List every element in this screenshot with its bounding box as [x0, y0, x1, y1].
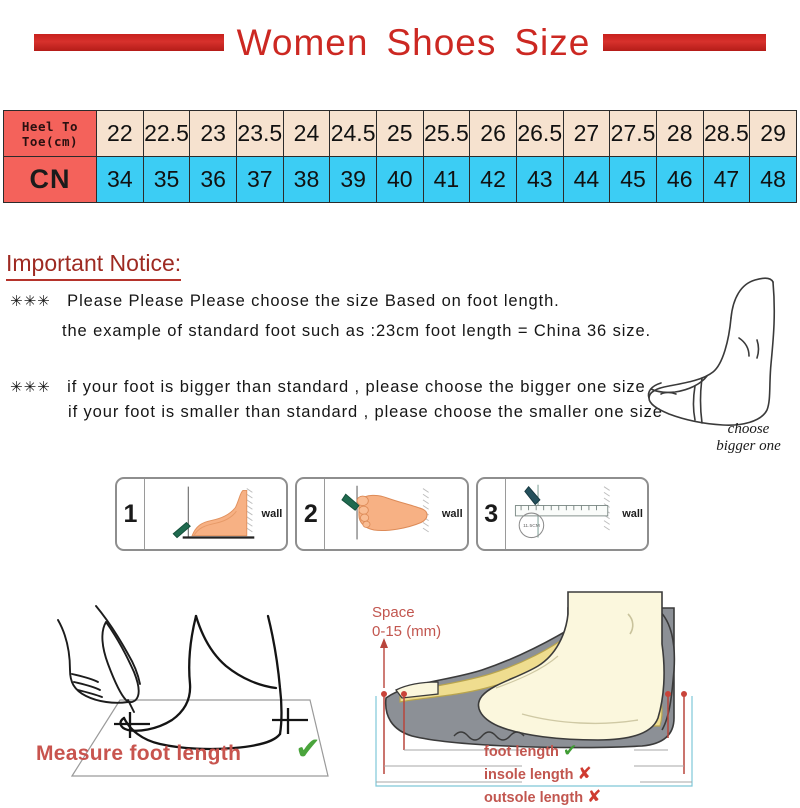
step-3-ruler-badge: 11.5CM: [523, 523, 540, 529]
notice-line-1: ✳✳✳ Please Please Please choose the size…: [10, 292, 560, 311]
cell-cm: 26.5: [516, 111, 563, 157]
row-header-heel-to-toe: Heel To Toe(cm): [4, 111, 97, 157]
step-2-body: wall: [325, 479, 466, 549]
important-notice-heading: Important Notice:: [6, 250, 181, 281]
page-title-word-3: Size: [514, 22, 590, 63]
insole-length-row: insole length ✘: [484, 763, 601, 786]
cell-cn: 45: [610, 157, 657, 203]
cell-cm: 28: [656, 111, 703, 157]
table-row-cn: CN 34 35 36 37 38 39 40 41 42 43 44 45 4…: [4, 157, 797, 203]
step-1-body: wall: [145, 479, 286, 549]
cell-cn: 40: [376, 157, 423, 203]
cell-cm: 25.5: [423, 111, 470, 157]
cell-cn: 39: [330, 157, 377, 203]
choose-bigger-line-2: bigger one: [696, 438, 800, 455]
space-label-line-1: Space: [372, 604, 441, 623]
step-2: 2: [295, 477, 468, 551]
outsole-length-label: outsole length: [484, 790, 583, 806]
check-icon: ✔: [563, 741, 577, 760]
notice-line-3-text: if your foot is bigger than standard , p…: [67, 378, 645, 396]
page-title-word-1: Women: [237, 22, 369, 63]
cell-cn: 48: [750, 157, 797, 203]
size-table-wrapper: Heel To Toe(cm) 22 22.5 23 23.5 24 24.5 …: [3, 110, 797, 203]
title-bar-left: [34, 34, 224, 51]
page-title: WomenShoesSize: [224, 24, 604, 61]
cell-cn: 36: [190, 157, 237, 203]
green-check-icon: ✔: [295, 733, 321, 764]
outsole-length-row: outsole length ✘: [484, 786, 601, 808]
cell-cm: 27.5: [610, 111, 657, 157]
foot-length-row: foot length ✔: [484, 740, 601, 763]
page-title-word-2: Shoes: [386, 22, 496, 63]
length-labels: foot length ✔ insole length ✘ outsole le…: [484, 740, 601, 808]
choose-bigger-line-1: choose: [696, 421, 800, 438]
title-bar-right: [603, 34, 766, 51]
cell-cm: 25: [376, 111, 423, 157]
step-1-wall-label: wall: [262, 508, 283, 520]
foot-length-label: foot length: [484, 744, 559, 760]
row-header-cn: CN: [4, 157, 97, 203]
step-2-wall-label: wall: [442, 508, 463, 520]
notice-line-2: the example of standard foot such as :23…: [62, 322, 651, 341]
step-1-number: 1: [117, 479, 145, 549]
measure-steps: 1 wall 2: [115, 477, 649, 551]
cell-cn: 34: [97, 157, 144, 203]
cell-cn: 47: [703, 157, 750, 203]
cell-cm: 23.5: [236, 111, 283, 157]
step-3-body: 11.5CM wall: [506, 479, 647, 549]
cell-cm: 29: [750, 111, 797, 157]
cell-cm: 26: [470, 111, 517, 157]
step-2-number: 2: [297, 479, 325, 549]
cell-cm: 24: [283, 111, 330, 157]
cell-cn: 44: [563, 157, 610, 203]
step-3-wall-label: wall: [622, 508, 643, 520]
cell-cn: 43: [516, 157, 563, 203]
asterisk-icon: ✳✳✳: [10, 293, 51, 310]
cell-cm: 28.5: [703, 111, 750, 157]
space-label: Space 0-15 (mm): [372, 604, 441, 642]
cell-cm: 24.5: [330, 111, 377, 157]
cell-cn: 35: [143, 157, 190, 203]
cell-cm: 22.5: [143, 111, 190, 157]
step-3: 3: [476, 477, 649, 551]
notice-line-1-text: Please Please Please choose the size Bas…: [67, 292, 560, 310]
page-title-row: WomenShoesSize: [0, 18, 800, 66]
measure-foot-length-caption: Measure foot length: [36, 742, 241, 766]
size-table: Heel To Toe(cm) 22 22.5 23 23.5 24 24.5 …: [3, 110, 797, 203]
cross-icon: ✘: [587, 787, 601, 806]
cross-icon: ✘: [577, 764, 591, 783]
cell-cn: 37: [236, 157, 283, 203]
notice-line-4: if your foot is smaller than standard , …: [68, 403, 663, 422]
cell-cm: 22: [97, 111, 144, 157]
cell-cm: 27: [563, 111, 610, 157]
step-1: 1 wall: [115, 477, 288, 551]
cell-cn: 42: [470, 157, 517, 203]
table-row-heel-to-toe: Heel To Toe(cm) 22 22.5 23 23.5 24 24.5 …: [4, 111, 797, 157]
choose-bigger-one-label: choose bigger one: [696, 421, 800, 455]
cell-cm: 23: [190, 111, 237, 157]
size-chart-page: WomenShoesSize Heel To Toe(cm) 22 22.5 2…: [0, 0, 800, 800]
notice-line-3: ✳✳✳ if your foot is bigger than standard…: [10, 378, 646, 397]
step-3-number: 3: [478, 479, 506, 549]
cell-cn: 41: [423, 157, 470, 203]
cell-cn: 38: [283, 157, 330, 203]
space-label-line-2: 0-15 (mm): [372, 623, 441, 642]
asterisk-icon: ✳✳✳: [10, 379, 51, 396]
insole-length-label: insole length: [484, 767, 573, 783]
cell-cn: 46: [656, 157, 703, 203]
